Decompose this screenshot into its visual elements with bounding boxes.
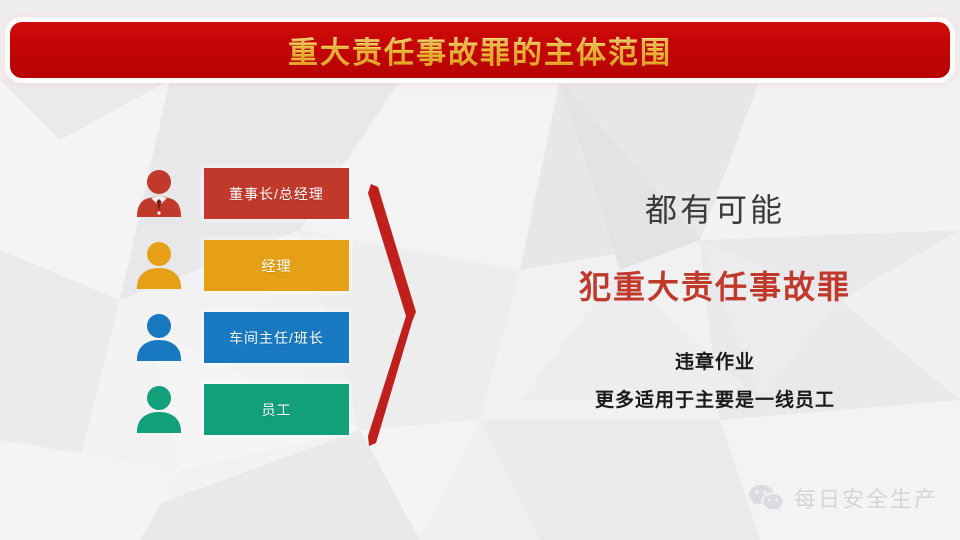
title-banner: 重大责任事故罪的主体范围 (10, 22, 950, 78)
role-bar[interactable]: 经理 (204, 240, 349, 291)
role-row[interactable]: 车间主任/班长 (130, 312, 360, 363)
conclusion-possible: 都有可能 (505, 190, 925, 230)
watermark-text: 每日安全生产 (794, 482, 938, 514)
person-icon (130, 237, 188, 295)
person-icon (130, 309, 188, 367)
chevron-right-icon (368, 184, 428, 446)
role-bar[interactable]: 车间主任/班长 (204, 312, 349, 363)
role-label: 董事长/总经理 (229, 184, 324, 204)
role-label: 经理 (262, 256, 292, 276)
role-label: 员工 (262, 400, 292, 420)
person-suit-icon (130, 165, 188, 223)
page-title: 重大责任事故罪的主体范围 (288, 28, 672, 72)
person-icon (130, 381, 188, 439)
conclusion-crime: 犯重大责任事故罪 (505, 268, 925, 306)
role-label: 车间主任/班长 (229, 328, 324, 348)
conclusion-note-line1: 违章作业 (505, 351, 925, 375)
wechat-icon (748, 483, 784, 513)
role-bar[interactable]: 员工 (204, 384, 349, 435)
conclusion-note-line2: 更多适用于主要是一线员工 (505, 389, 925, 413)
role-row[interactable]: 经理 (130, 240, 360, 291)
role-row[interactable]: 员工 (130, 384, 360, 435)
role-row[interactable]: 董事长/总经理 (130, 168, 360, 219)
conclusion-block: 都有可能 犯重大责任事故罪 违章作业 更多适用于主要是一线员工 (505, 190, 925, 413)
roles-list: 董事长/总经理 经理 车间主任/班长 (130, 168, 360, 435)
role-bar[interactable]: 董事长/总经理 (204, 168, 349, 219)
slide-canvas: 重大责任事故罪的主体范围 董事长/总经理 经理 (0, 0, 960, 540)
watermark: 每日安全生产 (748, 482, 938, 514)
